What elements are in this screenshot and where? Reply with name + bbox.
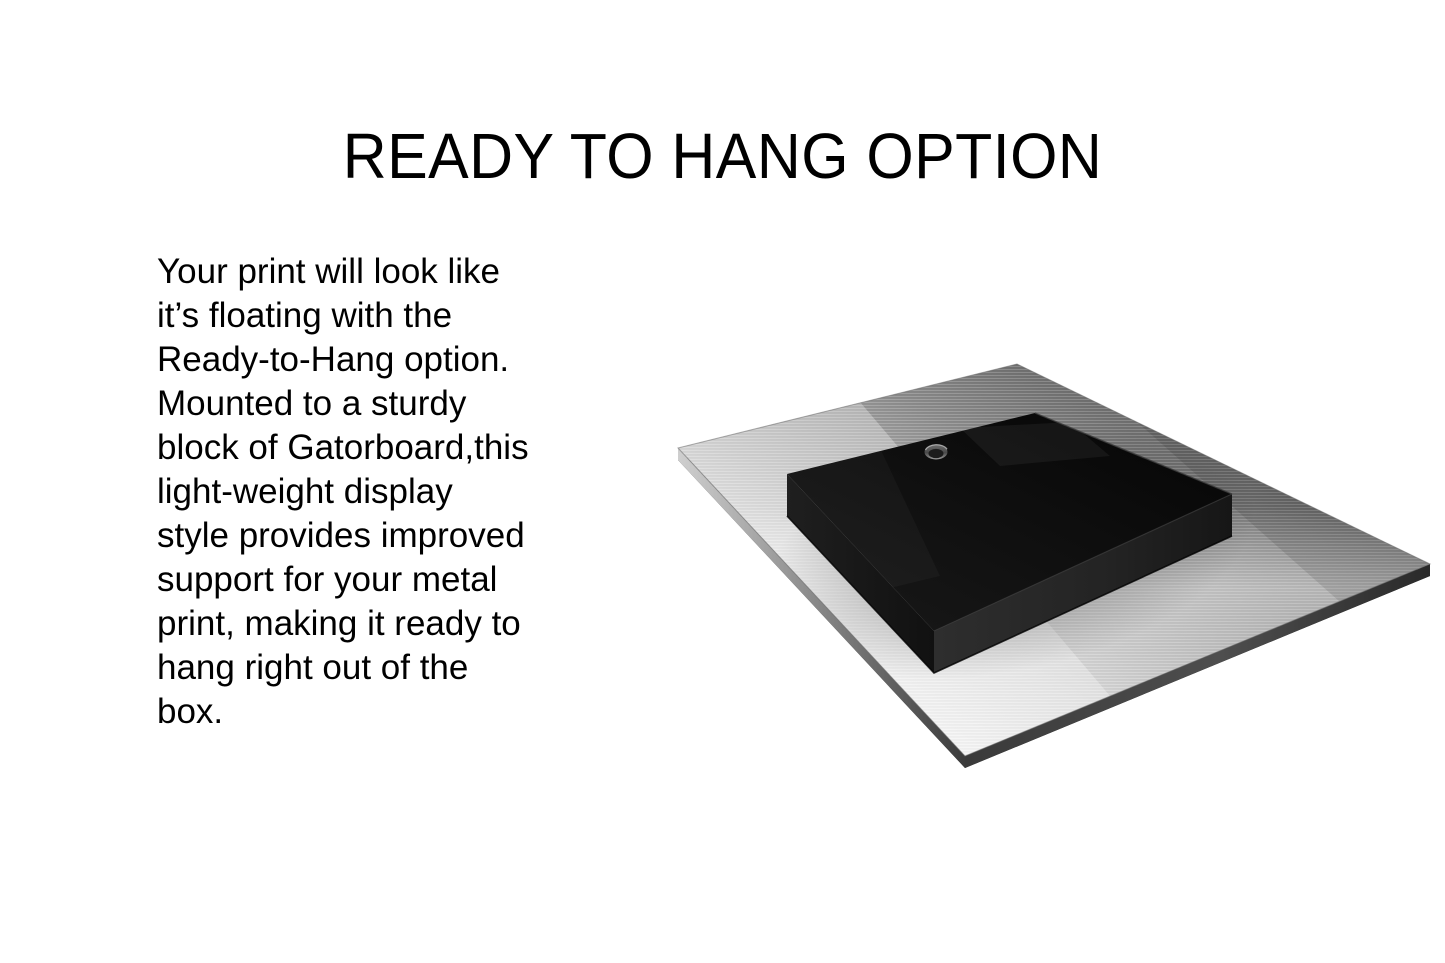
copy-line: Mounted to a sturdy <box>157 382 562 426</box>
body-copy-block: Your print will look like it’s floating … <box>157 250 562 734</box>
copy-line: hang right out of the <box>157 646 562 690</box>
page-title: READY TO HANG OPTION <box>36 121 1409 191</box>
copy-line: support for your metal <box>157 558 562 602</box>
copy-line: Ready-to-Hang option. <box>157 338 562 382</box>
copy-line: box. <box>157 690 562 734</box>
copy-line: block of Gatorboard,this <box>157 426 562 470</box>
copy-line: Your print will look like <box>157 250 562 294</box>
copy-line: style provides improved <box>157 514 562 558</box>
copy-line: print, making it ready to <box>157 602 562 646</box>
slide-canvas: READY TO HANG OPTION Your print will loo… <box>0 0 1445 963</box>
product-image <box>640 336 1445 786</box>
copy-line: it’s floating with the <box>157 294 562 338</box>
ready-to-hang-illustration <box>640 336 1445 786</box>
copy-line: light-weight display <box>157 470 562 514</box>
hanging-hole-icon <box>925 445 948 460</box>
